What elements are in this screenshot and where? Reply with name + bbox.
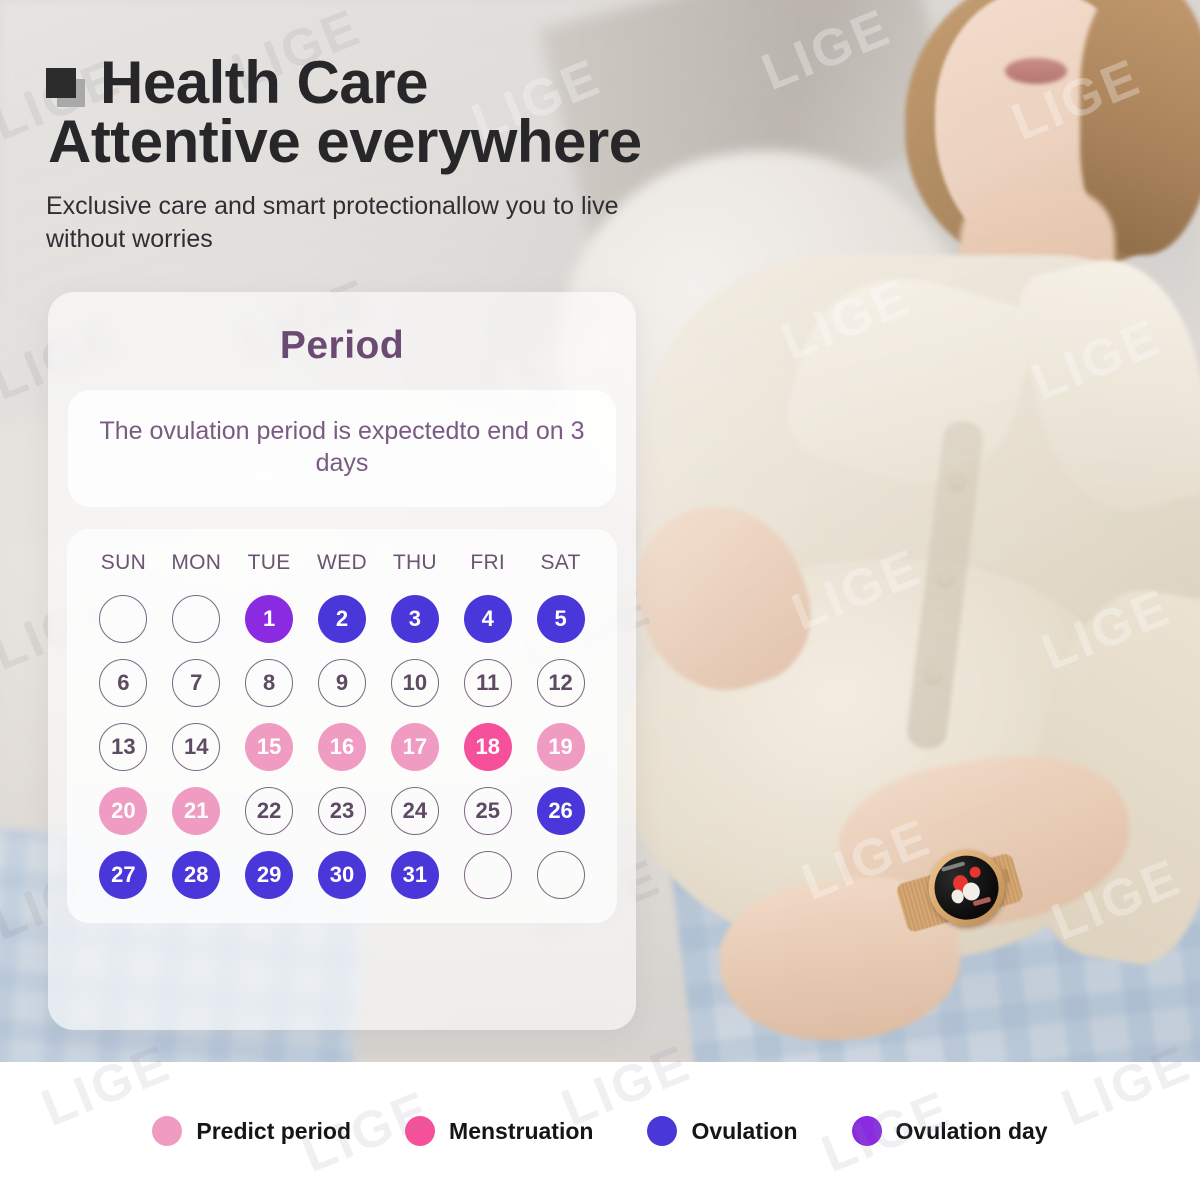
calendar-day-23[interactable]: 23	[318, 787, 366, 835]
calendar-day-14[interactable]: 14	[172, 723, 220, 771]
calendar-day-15[interactable]: 15	[245, 723, 293, 771]
calendar-day-9[interactable]: 9	[318, 659, 366, 707]
calendar-day-header: FRI	[470, 551, 505, 579]
calendar-day-3[interactable]: 3	[391, 595, 439, 643]
legend-dot-ovulation	[647, 1116, 677, 1146]
headline-line-1: Health Care	[100, 49, 428, 116]
calendar-day-8[interactable]: 8	[245, 659, 293, 707]
calendar-day-4[interactable]: 4	[464, 595, 512, 643]
legend-bar: LIGE LIGE LIGE LIGE LIGE Predict periodM…	[0, 1062, 1200, 1200]
watermark-text: LIGE	[294, 1079, 440, 1185]
calendar-day-header: WED	[317, 551, 367, 579]
calendar-day-empty	[99, 595, 147, 643]
legend-item-ovulation: Ovulation	[647, 1116, 797, 1146]
headline-block: Health Care Attentive everywhere Exclusi…	[46, 54, 806, 256]
promo-page: LIGE LIGE LIGE LIGE LIGE LIGE LIGE LIGE …	[0, 0, 1200, 1200]
watermark-text: LIGE	[814, 1079, 960, 1185]
double-square-icon	[46, 68, 86, 108]
calendar-day-6[interactable]: 6	[99, 659, 147, 707]
calendar-day-13[interactable]: 13	[99, 723, 147, 771]
period-card: Period The ovulation period is expectedt…	[48, 292, 636, 1030]
calendar-day-30[interactable]: 30	[318, 851, 366, 899]
calendar-day-28[interactable]: 28	[172, 851, 220, 899]
calendar-day-24[interactable]: 24	[391, 787, 439, 835]
calendar-day-11[interactable]: 11	[464, 659, 512, 707]
calendar-day-16[interactable]: 16	[318, 723, 366, 771]
headline-subtitle: Exclusive care and smart protectionallow…	[46, 190, 686, 256]
calendar-day-25[interactable]: 25	[464, 787, 512, 835]
calendar-day-empty	[464, 851, 512, 899]
calendar-day-empty	[172, 595, 220, 643]
calendar-day-19[interactable]: 19	[537, 723, 585, 771]
calendar-day-header: THU	[393, 551, 437, 579]
calendar-day-20[interactable]: 20	[99, 787, 147, 835]
ovulation-notice-text: The ovulation period is expectedto end o…	[96, 416, 588, 479]
shirt-button	[949, 472, 966, 489]
woman-lips	[1005, 58, 1067, 84]
calendar-grid[interactable]: SUNMONTUEWEDTHUFRISAT1234567891011121314…	[87, 551, 597, 899]
shirt-button	[925, 666, 942, 683]
legend-label: Ovulation	[691, 1118, 797, 1145]
calendar-day-12[interactable]: 12	[537, 659, 585, 707]
shirt-button	[937, 569, 954, 586]
legend-dot-predict	[152, 1116, 182, 1146]
calendar-day-2[interactable]: 2	[318, 595, 366, 643]
period-card-title: Period	[48, 324, 636, 368]
calendar-day-header: SAT	[540, 551, 580, 579]
watch-screen-shape-red	[968, 865, 982, 879]
calendar-day-empty	[537, 851, 585, 899]
calendar-day-7[interactable]: 7	[172, 659, 220, 707]
calendar-day-5[interactable]: 5	[537, 595, 585, 643]
calendar-day-header: SUN	[101, 551, 146, 579]
headline-line-2: Attentive everywhere	[48, 113, 642, 172]
calendar-day-21[interactable]: 21	[172, 787, 220, 835]
ovulation-notice-box: The ovulation period is expectedto end o…	[68, 390, 616, 507]
page-title: Health Care Attentive everywhere	[100, 54, 642, 172]
calendar-day-31[interactable]: 31	[391, 851, 439, 899]
calendar-day-header: MON	[171, 551, 221, 579]
watch-screen-text	[941, 861, 965, 871]
calendar-card[interactable]: SUNMONTUEWEDTHUFRISAT1234567891011121314…	[67, 529, 617, 923]
calendar-day-1[interactable]: 1	[245, 595, 293, 643]
calendar-day-18[interactable]: 18	[464, 723, 512, 771]
calendar-day-29[interactable]: 29	[245, 851, 293, 899]
calendar-day-27[interactable]: 27	[99, 851, 147, 899]
calendar-day-header: TUE	[248, 551, 291, 579]
calendar-day-10[interactable]: 10	[391, 659, 439, 707]
calendar-day-17[interactable]: 17	[391, 723, 439, 771]
calendar-day-22[interactable]: 22	[245, 787, 293, 835]
calendar-day-26[interactable]: 26	[537, 787, 585, 835]
